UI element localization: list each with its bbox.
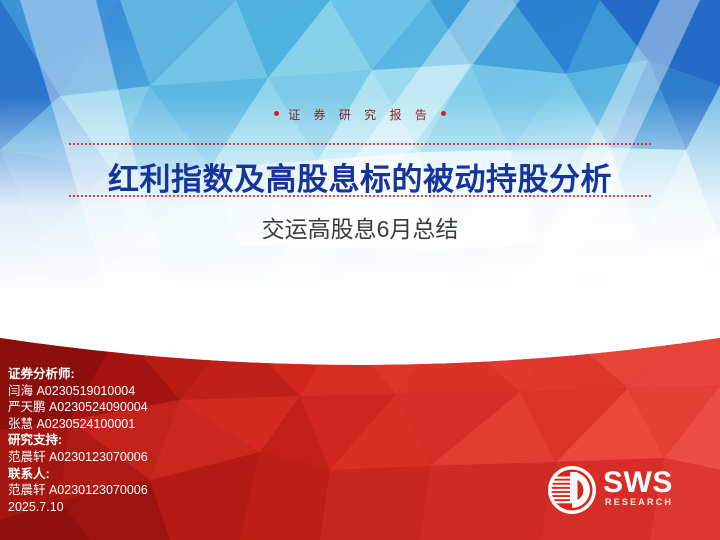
contact-entry: 范晨轩 A0230123070006 xyxy=(8,482,308,499)
analyst-entry: 闫海 A0230519010004 xyxy=(8,383,308,400)
background-blue-polygons xyxy=(0,0,720,300)
research-support-entry: 范晨轩 A0230123070006 xyxy=(8,449,308,466)
eyebrow-label: 证 券 研 究 报 告 xyxy=(288,106,432,123)
red-dot-icon-left xyxy=(274,111,279,116)
sws-wordmark: SWS xyxy=(603,468,673,498)
dotted-rule-top xyxy=(68,143,652,145)
research-support-label: 研究支持: xyxy=(8,432,308,449)
sws-circle-mark-icon xyxy=(546,464,598,516)
analyst-entry: 严天鹏 A0230524090004 xyxy=(8,399,308,416)
red-dot-icon-right xyxy=(441,111,446,116)
sws-tagline: RESEARCH xyxy=(605,497,673,507)
analyst-label: 证券分析师: xyxy=(8,366,308,383)
page-title: 红利指数及高股息标的被动持股分析 xyxy=(0,154,720,199)
presentation-cover-slide: 证 券 研 究 报 告 红利指数及高股息标的被动持股分析 交运高股息6月总结 证… xyxy=(0,0,720,540)
analyst-entry: 张慧 A0230524100001 xyxy=(8,416,308,433)
report-type-eyebrow: 证 券 研 究 报 告 xyxy=(0,106,720,123)
credits-block: 证券分析师: 闫海 A0230519010004 严天鹏 A0230524090… xyxy=(8,366,308,515)
report-date: 2025.7.10 xyxy=(8,499,308,516)
contact-label: 联系人: xyxy=(8,466,308,483)
page-subtitle: 交运高股息6月总结 xyxy=(0,210,720,244)
sws-logo: SWS RESEARCH xyxy=(546,462,706,520)
